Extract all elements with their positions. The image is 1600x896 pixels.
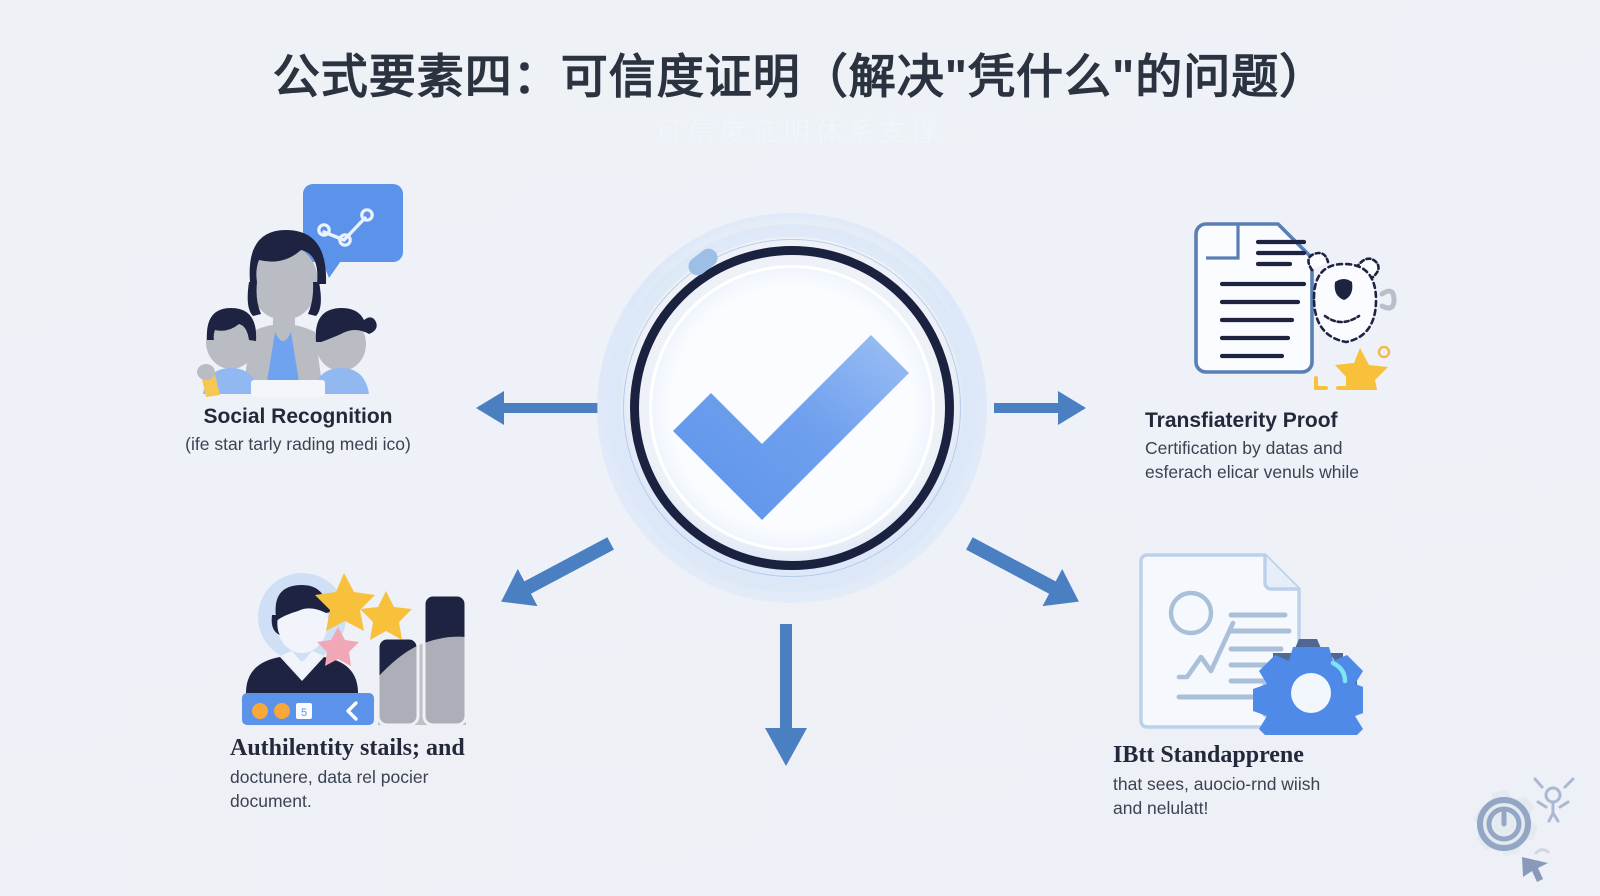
transfiaterity-proof-line-2: esferach elicar venuls while bbox=[1145, 461, 1475, 485]
authilentity-stails-line-1: doctunere, data rel pocier bbox=[230, 766, 560, 790]
quadrant-ibtt-standapprene: IBtt Standapprene that sees, auocio-rnd … bbox=[1113, 545, 1453, 825]
arrow-down-icon bbox=[756, 622, 816, 770]
page-title: 公式要素四：可信度证明（解决"凭什么"的问题） bbox=[0, 38, 1600, 107]
ibtt-standapprene-title: IBtt Standapprene bbox=[1113, 740, 1443, 770]
quadrant-transfiaterity-proof: Transfiaterity Proof Certification by da… bbox=[1145, 210, 1485, 490]
check-icon bbox=[649, 265, 935, 551]
social-recognition-line-1: (ife star tarly rading medi ico) bbox=[88, 433, 508, 457]
ibtt-standapprene-text: IBtt Standapprene that sees, auocio-rnd … bbox=[1113, 740, 1443, 821]
subtitle-ghost: 可信度证明体系支撑 bbox=[0, 112, 1600, 149]
authilentity-stails-line-2: document. bbox=[230, 790, 560, 814]
document-bear-star-icon bbox=[1170, 210, 1400, 395]
transfiaterity-proof-text: Transfiaterity Proof Certification by da… bbox=[1145, 408, 1475, 485]
quadrant-authilentity-stails: 5 Authilentity stails; and doctunere, da… bbox=[230, 555, 570, 825]
gear-refresh-cursor-watermark bbox=[1452, 769, 1582, 884]
infographic-canvas: 可信度证明体系支撑 公式要素四：可信度证明（解决"凭什么"的问题） bbox=[0, 0, 1600, 896]
family-chart-bubble-icon bbox=[193, 182, 413, 402]
svg-text:5: 5 bbox=[301, 707, 307, 719]
arrow-right-icon bbox=[992, 386, 1090, 430]
ibtt-standapprene-line-2: and nelulatt! bbox=[1113, 797, 1443, 821]
authilentity-stails-title: Authilentity stails; and bbox=[230, 733, 560, 763]
transfiaterity-proof-title: Transfiaterity Proof bbox=[1145, 408, 1475, 434]
quadrant-social-recognition: Social Recognition (ife star tarly radin… bbox=[88, 182, 508, 472]
document-gear-icon bbox=[1123, 545, 1363, 740]
verified-check-badge bbox=[597, 213, 987, 603]
social-recognition-title: Social Recognition bbox=[88, 404, 508, 430]
social-recognition-text: Social Recognition (ife star tarly radin… bbox=[88, 404, 508, 457]
transfiaterity-proof-line-1: Certification by datas and bbox=[1145, 437, 1475, 461]
authilentity-stails-text: Authilentity stails; and doctunere, data… bbox=[230, 733, 560, 814]
ibtt-standapprene-line-1: that sees, auocio-rnd wiish bbox=[1113, 773, 1443, 797]
avatar-stars-barchart-icon: 5 bbox=[238, 555, 478, 730]
